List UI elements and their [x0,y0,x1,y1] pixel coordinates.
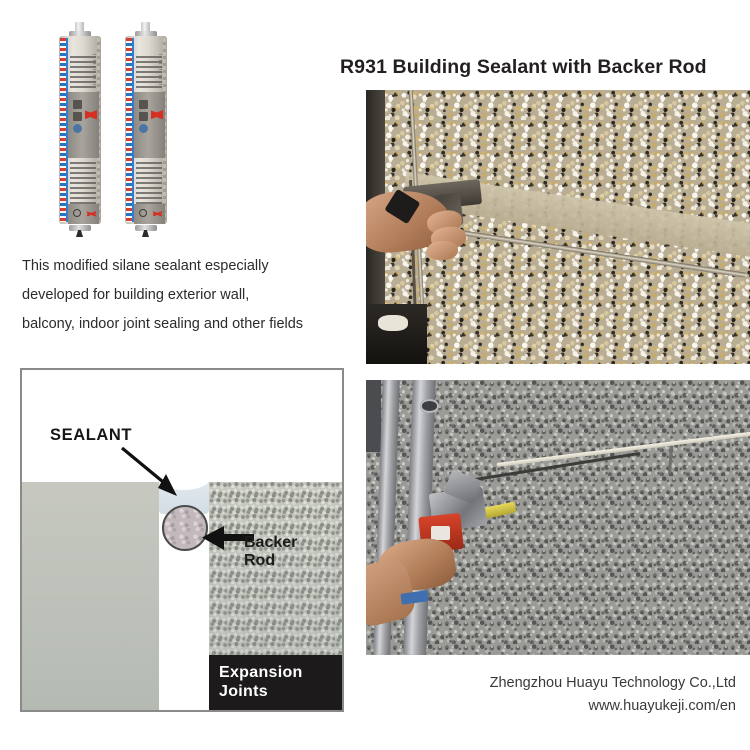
cartridge-label-band [68,92,99,158]
cartridge-text-sidebar [93,54,96,90]
warning-icon [73,100,82,109]
warning-icon [139,100,148,109]
product-description: This modified silane sealant especially … [22,252,352,339]
diagram-label-sealant: SEALANT [50,426,132,445]
dark-rail-foreground [366,304,427,364]
hazard-icon [73,112,82,121]
joint-cross-section-diagram: SEALANT Backer Rod Expansion Joints [20,368,344,712]
caulking-gun-label [431,526,450,540]
arrow-to-sealant-icon [120,446,182,498]
cartridge-text-block-bottom [136,162,162,206]
ce-mark-icon [139,209,147,217]
cartridge-nozzle-tip [76,230,83,237]
backer-rod-label-line-2: Rod [244,552,297,570]
photo-sealant-application-ladder-wall [366,380,750,655]
cartridge-label-band-lower [68,204,99,224]
hazard-icon [139,112,148,121]
ladder-shadow [366,380,381,452]
photo-sealant-application-aggregate-wall [366,90,750,364]
brand-logo-small-icon [153,207,162,221]
cartridge-icon-group [73,100,85,136]
company-website[interactable]: www.huayukeji.com/en [490,695,736,718]
cartridge-body [125,36,167,224]
footer-contact: Zhengzhou Huayu Technology Co.,Ltd www.h… [490,672,736,718]
diagram-label-expansion-joints: Expansion Joints [209,655,344,710]
sealant-cartridge [55,22,105,237]
info-icon [73,124,82,133]
product-banner: R931 Building Sealant with Backer Rod Th… [0,0,750,750]
block-tint-overlay [22,482,159,712]
ce-mark-icon [73,209,81,217]
description-line-1: This modified silane sealant especially [22,252,352,281]
cartridge-label-band [134,92,165,158]
product-title: R931 Building Sealant with Backer Rod [340,56,750,79]
brand-logo-small-icon [87,207,96,221]
cartridge-label-band-lower [134,204,165,224]
description-line-2: developed for building exterior wall, [22,281,352,310]
backer-rod-label-line-1: Backer [244,534,297,552]
cartridge-text-block-bottom [70,162,96,206]
description-line-3: balcony, indoor joint sealing and other … [22,310,352,339]
cartridge-text-sidebar [159,54,162,90]
expansion-label-line-1: Expansion [219,663,344,682]
diagram-label-backer-rod: Backer Rod [244,534,297,570]
rail-fitting [378,315,409,331]
info-icon [139,124,148,133]
ladder-rung-hole [420,399,439,413]
cartridge-body [59,36,101,224]
company-name: Zhengzhou Huayu Technology Co.,Ltd [490,672,736,695]
concrete-block-left [22,482,159,712]
cartridge-nozzle-tip [142,230,149,237]
expansion-label-line-2: Joints [219,682,344,701]
sealant-cartridge [121,22,171,237]
cartridge-icon-group [139,100,151,136]
brand-logo-icon [151,98,163,132]
brand-logo-icon [85,98,97,132]
product-image-group [55,22,195,237]
